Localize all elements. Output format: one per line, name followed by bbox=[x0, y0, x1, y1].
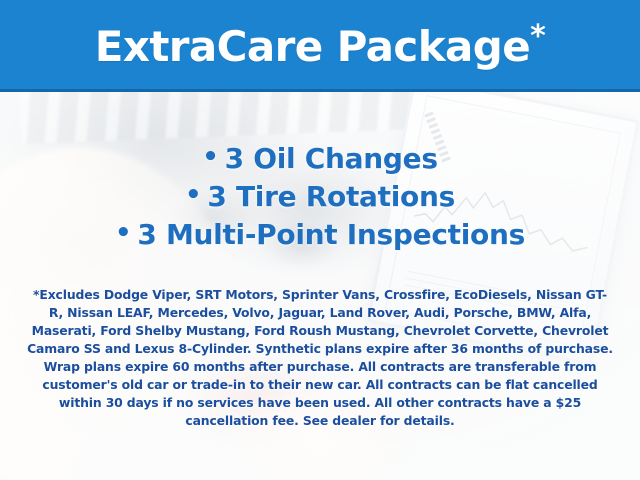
benefit-item-label: 3 Multi-Point Inspections bbox=[137, 218, 525, 251]
main-content: •3 Oil Changes •3 Tire Rotations •3 Mult… bbox=[0, 0, 640, 480]
extracare-package-ad: ExtraCare Package* •3 Oil Changes •3 Tir… bbox=[0, 0, 640, 480]
bullet-icon: • bbox=[202, 144, 218, 170]
benefit-item-label: 3 Tire Rotations bbox=[207, 180, 455, 213]
benefit-item-label: 3 Oil Changes bbox=[225, 142, 438, 175]
benefit-item-multi-point-inspections: •3 Multi-Point Inspections bbox=[0, 216, 640, 254]
bullet-icon: • bbox=[115, 220, 131, 246]
benefits-list: •3 Oil Changes •3 Tire Rotations •3 Mult… bbox=[0, 140, 640, 254]
disclaimer-text: *Excludes Dodge Viper, SRT Motors, Sprin… bbox=[26, 286, 614, 430]
benefit-item-oil-changes: •3 Oil Changes bbox=[0, 140, 640, 178]
bullet-icon: • bbox=[185, 182, 201, 208]
benefit-item-tire-rotations: •3 Tire Rotations bbox=[0, 178, 640, 216]
